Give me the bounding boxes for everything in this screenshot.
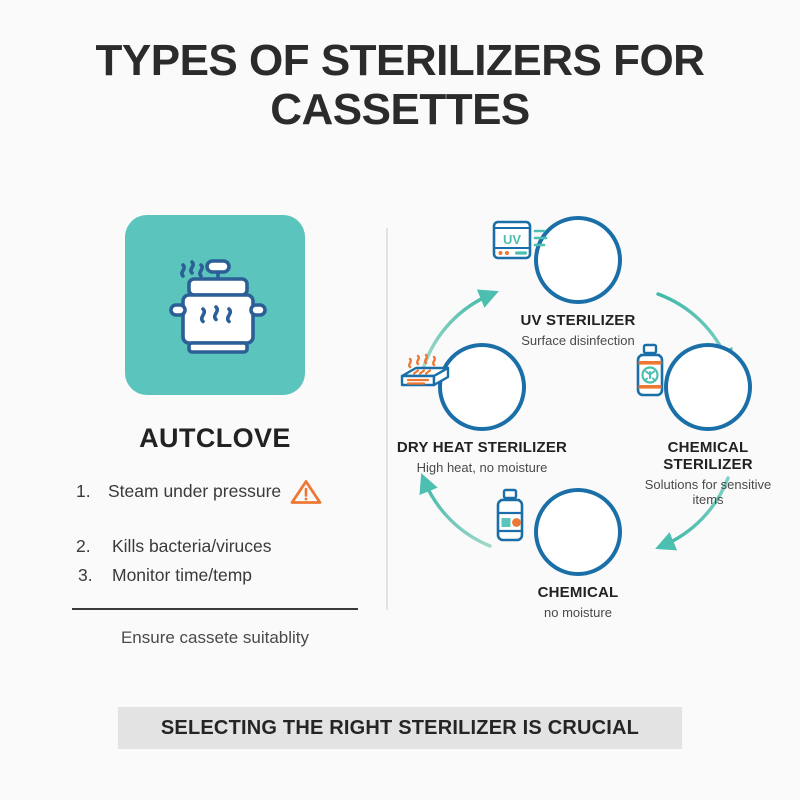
cycle-node-title: DRY HEAT STERILIZER: [396, 440, 568, 457]
cycle-node-title: CHEMICAL STERILIZER: [628, 440, 788, 474]
cycle-node-dry-heat[interactable]: DRY HEAT STERILIZER High heat, no moistu…: [396, 343, 568, 475]
cycle-node-uv[interactable]: UV UV STERILIZER Surface disinfection: [488, 216, 668, 348]
sterilizer-cycle-diagram: UV UV STERILIZER Surface disinfection: [396, 210, 788, 650]
chemical-node-ring: [664, 343, 752, 431]
autoclave-label: AUTCLOVE: [60, 423, 370, 454]
uv-node-ring: UV: [534, 216, 622, 304]
infographic-canvas: Types of Sterilizers for Cassettes: [0, 0, 800, 800]
cycle-node-title: CHEMICAL: [488, 585, 668, 602]
vertical-divider: [386, 228, 388, 610]
svg-text:UV: UV: [503, 232, 521, 247]
list-item: 2. Kills bacteria/viruces: [60, 536, 370, 557]
step-number: 3.: [76, 565, 112, 586]
autoclave-pot-icon: [155, 243, 275, 368]
autoclave-panel: AUTCLOVE 1. Steam under pressure 2. Kill…: [60, 215, 370, 648]
cycle-node-subtitle: High heat, no moisture: [396, 460, 568, 475]
autoclave-icon-tile: [125, 215, 305, 395]
list-item: 3. Monitor time/temp: [60, 565, 370, 586]
step-text: Monitor time/temp: [112, 565, 252, 586]
bottom-banner: Selecting the right sterilizer is crucia…: [118, 707, 682, 749]
cycle-node-chemical-bottom[interactable]: CHEMICAL no moisture: [488, 488, 668, 620]
step-text: Kills bacteria/viruces: [112, 536, 272, 557]
cycle-node-title: UV STERILIZER: [488, 313, 668, 330]
cycle-node-chemical-sterilizer[interactable]: CHEMICAL STERILIZER Solutions for sensit…: [628, 343, 788, 507]
list-item: 1. Steam under pressure: [60, 476, 370, 506]
divider: [72, 608, 358, 610]
chemical-bottom-node-ring: [534, 488, 622, 576]
step-text: Steam under pressure: [108, 481, 281, 502]
dry-heat-node-ring: [438, 343, 526, 431]
autoclave-steps-list: 1. Steam under pressure 2. Kills bacteri…: [60, 476, 370, 586]
page-title: Types of Sterilizers for Cassettes: [60, 36, 740, 135]
step-number: 2.: [76, 536, 112, 557]
step-number: 1.: [76, 481, 108, 502]
warning-triangle-icon: [289, 476, 323, 506]
bottom-banner-text: Selecting the right sterilizer is crucia…: [161, 717, 639, 740]
autoclave-note: Ensure cassete suitablity: [60, 628, 370, 648]
cycle-node-subtitle: no moisture: [488, 605, 668, 620]
